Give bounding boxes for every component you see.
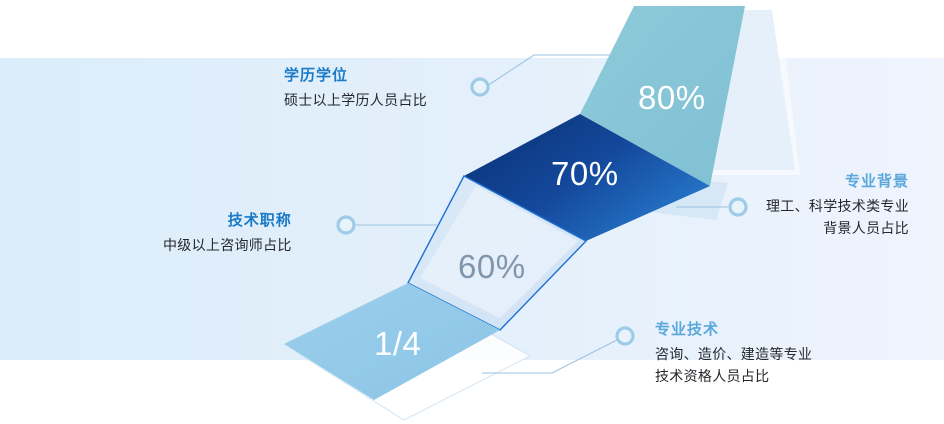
callout-tech-title: 专业技术 bbox=[655, 320, 812, 340]
callout-tech: 专业技术 咨询、造价、建造等专业 技术资格人员占比 bbox=[655, 320, 812, 387]
panel-value-70: 70% bbox=[551, 155, 619, 193]
panel-value-80: 80% bbox=[638, 79, 706, 117]
connector-dot-tech bbox=[617, 328, 633, 344]
callout-major-desc-line1: 理工、科学技术类专业 bbox=[766, 195, 909, 217]
connector-dot-title bbox=[338, 217, 354, 233]
connector-dot-major bbox=[730, 199, 746, 215]
panel-value-60: 60% bbox=[458, 248, 526, 286]
callout-title: 技术职称 中级以上咨询师占比 bbox=[163, 211, 292, 256]
callout-degree-desc: 硕士以上学历人员占比 bbox=[284, 89, 427, 111]
callout-tech-desc-line2: 技术资格人员占比 bbox=[655, 365, 812, 387]
infographic-canvas: 80% 70% 60% 1/4 学历学位 硕士以上学历人员占比 技术职称 中级以… bbox=[0, 0, 944, 424]
panel-value-14: 1/4 bbox=[374, 325, 421, 363]
callout-degree-title: 学历学位 bbox=[284, 66, 427, 86]
callout-major-desc-line2: 背景人员占比 bbox=[766, 217, 909, 239]
callout-title-desc: 中级以上咨询师占比 bbox=[163, 234, 292, 256]
callout-tech-desc-line1: 咨询、造价、建造等专业 bbox=[655, 343, 812, 365]
callout-title-title: 技术职称 bbox=[163, 211, 292, 231]
callout-major-title: 专业背景 bbox=[766, 172, 909, 192]
callout-major: 专业背景 理工、科学技术类专业 背景人员占比 bbox=[766, 172, 909, 239]
connector-dot-degree bbox=[472, 79, 488, 95]
callout-degree: 学历学位 硕士以上学历人员占比 bbox=[284, 66, 427, 111]
